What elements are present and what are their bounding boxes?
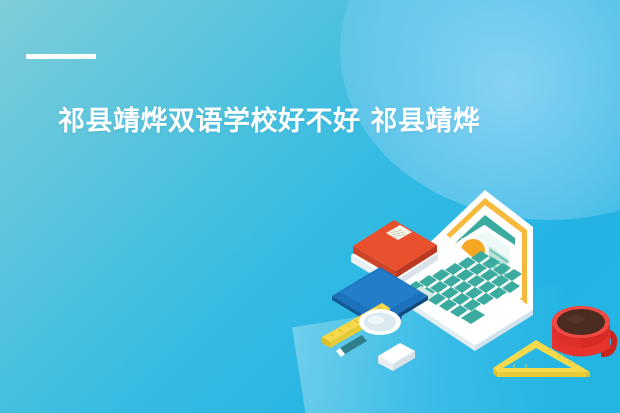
education-illustration <box>318 188 620 413</box>
accent-rule <box>26 54 96 59</box>
eraser-icon <box>378 343 415 371</box>
page-title: 祁县靖烨双语学校好不好 祁县靖烨 <box>58 103 578 141</box>
coffee-mug-icon <box>552 306 617 357</box>
promo-banner: 祁县靖烨双语学校好不好 祁县靖烨 <box>0 0 620 413</box>
